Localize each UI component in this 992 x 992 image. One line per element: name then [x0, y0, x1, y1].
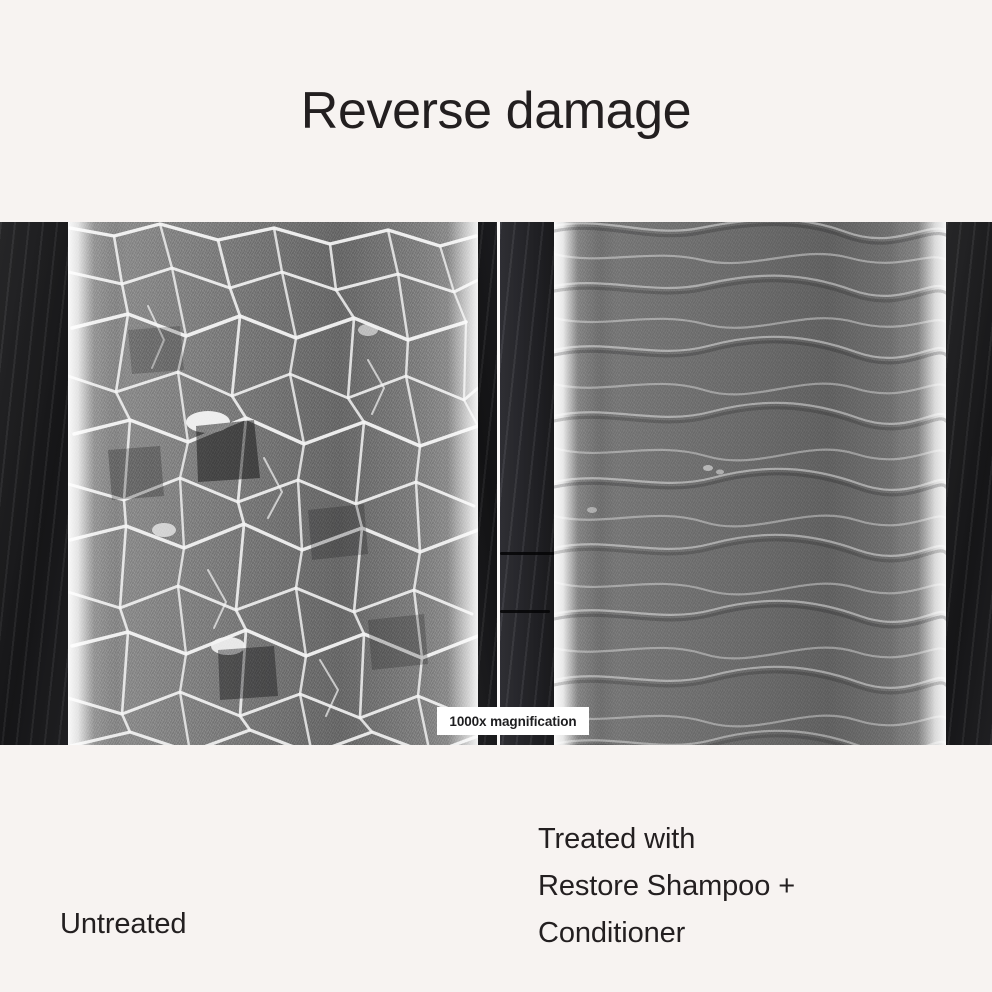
slab-texture	[0, 222, 70, 745]
background-slab	[946, 222, 992, 745]
magnification-label: 1000x magnification	[449, 714, 576, 729]
micrograph-grain	[68, 222, 478, 745]
background-slab	[0, 222, 70, 745]
page-title: Reverse damage	[301, 85, 691, 137]
hair-fiber-untreated	[68, 222, 478, 745]
micrograph-grain	[554, 222, 946, 745]
heading-area: Reverse damage	[0, 0, 992, 222]
before-after-image-strip: 1000x magnification	[0, 222, 992, 745]
caption-treated-line-3: Conditioner	[538, 910, 795, 957]
slab-texture	[500, 222, 556, 745]
panel-divider	[497, 222, 500, 745]
background-hairline	[500, 610, 550, 613]
caption-treated-line-1: Treated with	[538, 816, 795, 863]
panel-untreated-micrograph	[0, 222, 497, 745]
caption-treated: Treated with Restore Shampoo + Condition…	[538, 816, 795, 957]
comparison-card: Reverse damage	[0, 0, 992, 992]
background-hairline	[500, 552, 556, 555]
slab-texture	[946, 222, 992, 745]
caption-untreated: Untreated	[60, 908, 186, 941]
background-slab	[500, 222, 556, 745]
caption-treated-line-2: Restore Shampoo +	[538, 863, 795, 910]
panel-treated-micrograph	[500, 222, 992, 745]
hair-fiber-treated	[554, 222, 946, 745]
magnification-badge: 1000x magnification	[437, 707, 589, 735]
